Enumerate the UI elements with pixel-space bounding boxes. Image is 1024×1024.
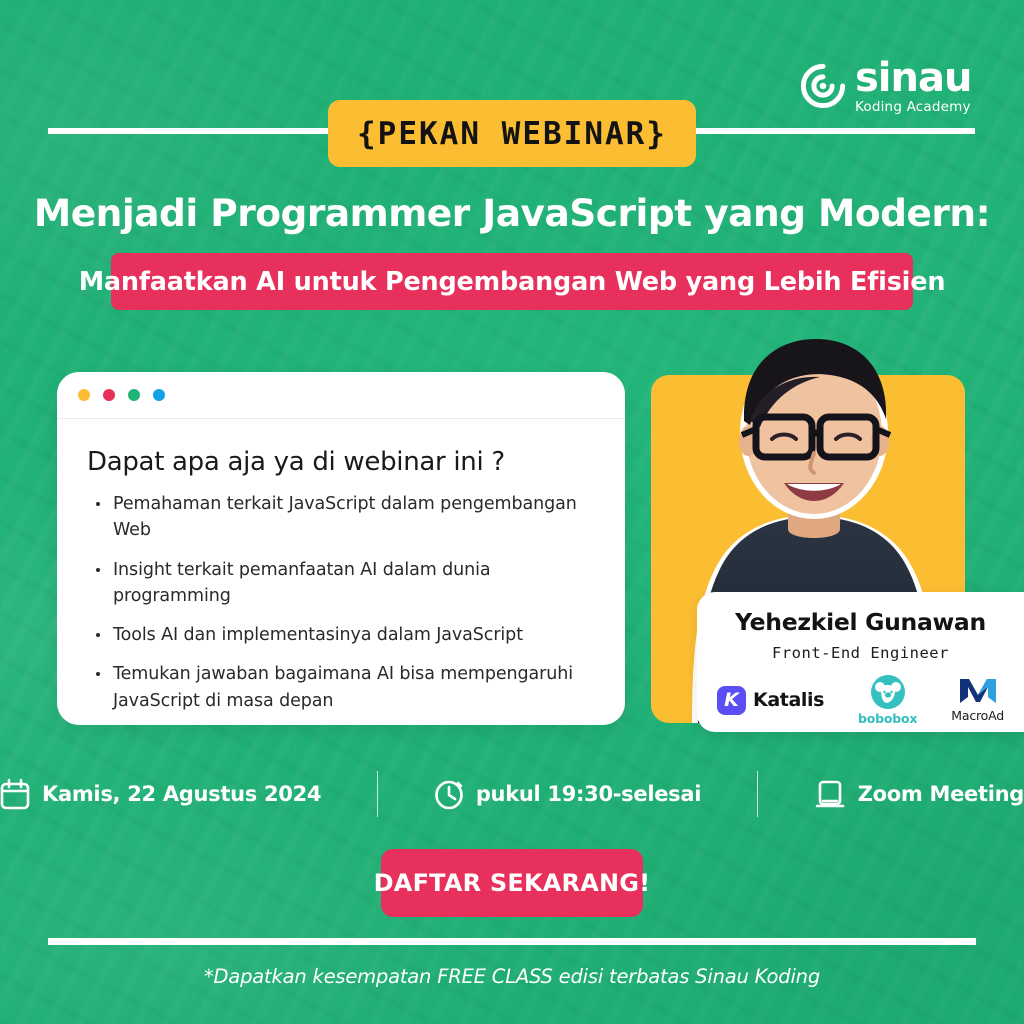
divider-bottom bbox=[48, 938, 976, 945]
event-platform: Zoom Meeting bbox=[814, 778, 1024, 810]
event-date: Kamis, 22 Agustus 2024 bbox=[0, 778, 321, 810]
benefits-title: Dapat apa aja ya di webinar ini ? bbox=[87, 447, 595, 477]
speaker-role: Front-End Engineer bbox=[772, 644, 949, 662]
spiral-circle-icon bbox=[800, 63, 846, 109]
speaker-name-card: Yehezkiel Gunawan Front-End Engineer K K… bbox=[697, 592, 1024, 732]
company-macroad: MacroAd bbox=[951, 677, 1004, 723]
event-time: pukul 19:30-selesai bbox=[434, 778, 701, 810]
company-katalis: K Katalis bbox=[717, 686, 824, 715]
webinar-poster: sinau Koding Academy {PEKAN WEBINAR} Men… bbox=[0, 0, 1024, 1024]
brand-tagline: Koding Academy bbox=[855, 101, 971, 115]
laptop-icon bbox=[814, 778, 846, 810]
bobobox-koala-icon bbox=[870, 674, 906, 710]
register-button-label: DAFTAR SEKARANG! bbox=[374, 869, 651, 897]
window-dot-green bbox=[128, 389, 140, 401]
divider-2 bbox=[757, 771, 759, 817]
footnote: *Dapatkan kesempatan FREE CLASS edisi te… bbox=[0, 965, 1024, 988]
window-dot-red bbox=[103, 389, 115, 401]
event-platform-text: Zoom Meeting bbox=[858, 782, 1024, 806]
subtitle-banner: Manfaatkan AI untuk Pengembangan Web yan… bbox=[111, 253, 913, 310]
benefits-list: Pemahaman terkait JavaScript dalam penge… bbox=[87, 491, 595, 714]
calendar-icon bbox=[0, 778, 30, 810]
register-button[interactable]: DAFTAR SEKARANG! bbox=[381, 849, 643, 917]
clock-icon bbox=[434, 778, 464, 810]
brand-logo: sinau Koding Academy bbox=[800, 55, 975, 117]
page-subtitle: Manfaatkan AI untuk Pengembangan Web yan… bbox=[79, 267, 946, 297]
brand-name: sinau bbox=[855, 58, 971, 98]
list-item: Tools AI dan implementasinya dalam JavaS… bbox=[87, 622, 595, 648]
event-badge-label: {PEKAN WEBINAR} bbox=[357, 116, 667, 152]
event-badge: {PEKAN WEBINAR} bbox=[328, 100, 696, 167]
brand-wordmark: sinau Koding Academy bbox=[855, 58, 971, 115]
list-item: Insight terkait pemanfaatan AI dalam dun… bbox=[87, 557, 595, 610]
divider-top-left bbox=[48, 128, 333, 134]
event-details: Kamis, 22 Agustus 2024 pukul 19:30-seles… bbox=[0, 766, 1024, 822]
divider-top-right bbox=[692, 128, 975, 134]
bobobox-label: bobobox bbox=[858, 711, 917, 726]
event-date-text: Kamis, 22 Agustus 2024 bbox=[42, 782, 321, 806]
speaker-name: Yehezkiel Gunawan bbox=[735, 608, 986, 636]
page-title: Menjadi Programmer JavaScript yang Moder… bbox=[0, 191, 1024, 235]
katalis-icon: K bbox=[717, 686, 746, 715]
benefits-card: Dapat apa aja ya di webinar ini ? Pemaha… bbox=[57, 372, 625, 725]
macroad-label: MacroAd bbox=[951, 708, 1004, 723]
company-bobobox: bobobox bbox=[858, 674, 917, 726]
list-item: Pemahaman terkait JavaScript dalam penge… bbox=[87, 491, 595, 544]
event-time-text: pukul 19:30-selesai bbox=[476, 782, 701, 806]
browser-titlebar bbox=[57, 372, 625, 419]
company-logos: K Katalis bobobox bbox=[697, 674, 1024, 726]
list-item: Temukan jawaban bagaimana AI bisa mempen… bbox=[87, 661, 595, 714]
window-dot-yellow bbox=[78, 389, 90, 401]
divider-1 bbox=[377, 771, 379, 817]
katalis-label: Katalis bbox=[753, 689, 824, 711]
benefits-body: Dapat apa aja ya di webinar ini ? Pemaha… bbox=[57, 419, 625, 714]
macroad-icon bbox=[958, 677, 998, 707]
window-dot-blue bbox=[153, 389, 165, 401]
